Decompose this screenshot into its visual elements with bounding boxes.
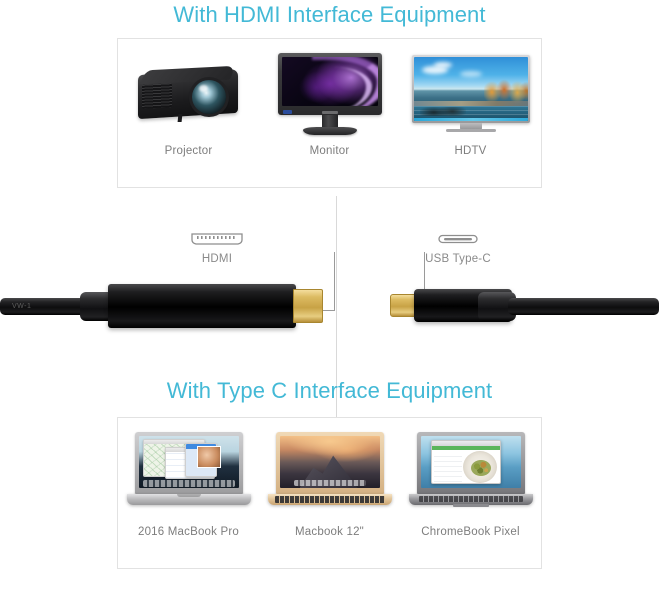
device-card-monitor: Monitor — [259, 39, 400, 187]
device-label-macbook-pro: 2016 MacBook Pro — [138, 526, 239, 538]
cable-wire-right — [508, 298, 659, 315]
hdmi-gold-contact — [293, 289, 323, 323]
hdmi-section-title: With HDMI Interface Equipment — [0, 2, 659, 28]
device-label-chromebook-pixel: ChromeBook Pixel — [421, 526, 519, 538]
hdtv-image — [407, 48, 535, 140]
hdmi-to-typec-cable: VW-1 — [0, 262, 659, 372]
device-card-chromebook-pixel: ChromeBook Pixel — [400, 418, 541, 568]
macbook-pro-image — [125, 427, 253, 519]
typec-gold-contact — [390, 294, 416, 317]
device-label-projector: Projector — [165, 145, 213, 157]
chromebook-pixel-image — [407, 427, 535, 519]
hdmi-device-box: Projector — [117, 38, 542, 188]
device-card-macbook-pro: 2016 MacBook Pro — [118, 418, 259, 568]
hdmi-port-icon — [163, 230, 271, 248]
typec-section-title: With Type C Interface Equipment — [0, 378, 659, 404]
device-label-hdtv: HDTV — [454, 145, 486, 157]
hdmi-connector-callout: HDMI — [163, 230, 271, 265]
product-diagram: With HDMI Interface Equipment Projector — [0, 0, 659, 604]
hdmi-connector-housing — [108, 284, 296, 328]
device-label-macbook-12: Macbook 12" — [295, 526, 364, 538]
typec-device-row: 2016 MacBook Pro Macb — [118, 418, 541, 568]
monitor-image — [266, 48, 394, 140]
hdmi-device-row: Projector — [118, 39, 541, 187]
macbook-12-image — [266, 427, 394, 519]
cable-marking-text: VW-1 — [12, 303, 31, 310]
device-card-projector: Projector — [118, 39, 259, 187]
typec-device-box: 2016 MacBook Pro Macb — [117, 417, 542, 569]
projector-image — [125, 48, 253, 140]
usb-type-c-port-icon — [404, 230, 512, 248]
device-card-macbook-12: Macbook 12" — [259, 418, 400, 568]
device-card-hdtv: HDTV — [400, 39, 541, 187]
device-label-monitor: Monitor — [310, 145, 350, 157]
